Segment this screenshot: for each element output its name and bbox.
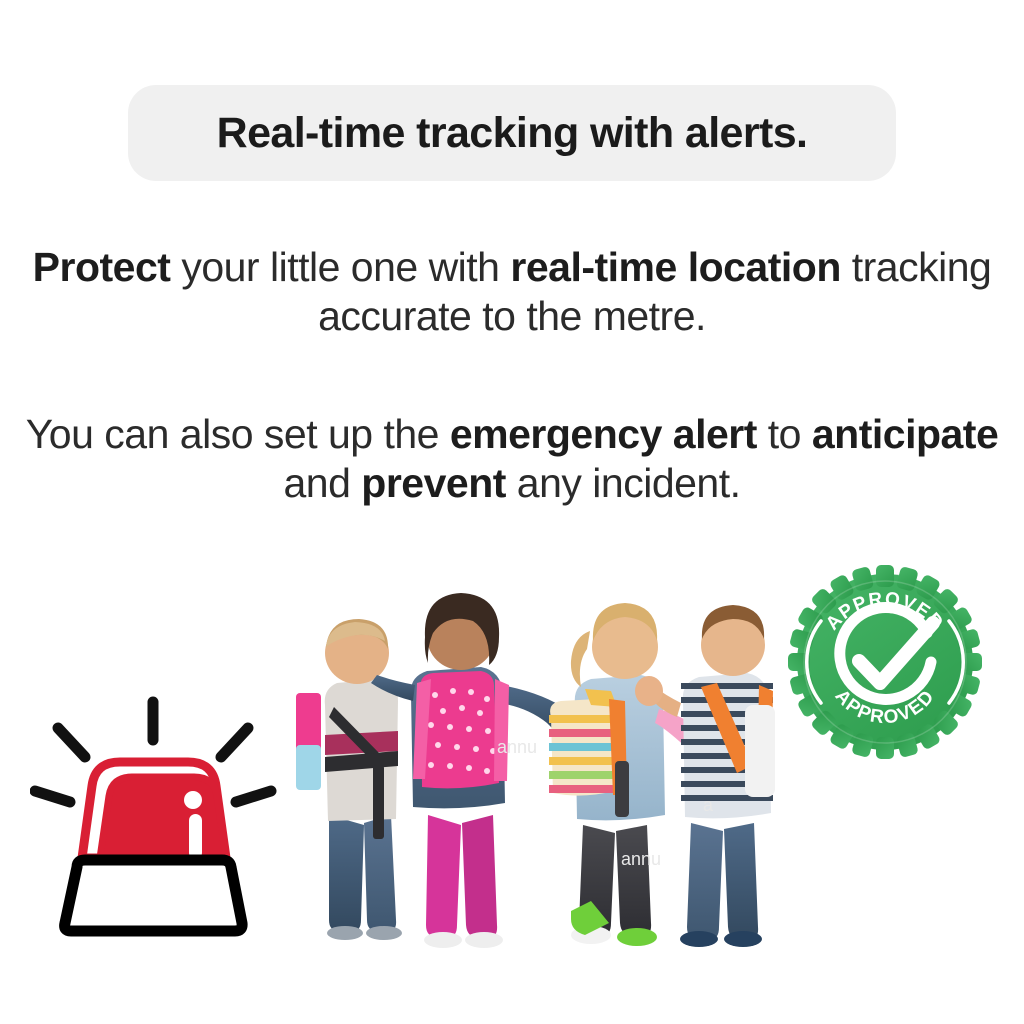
page-title: Real-time tracking with alerts. [217,112,808,155]
siren-ray-right [236,791,271,802]
siren-ray-left [35,791,70,802]
text-segment-your-little-one: your little one with [170,244,510,290]
text-segment-you-can-also: You can also set up the [26,411,450,457]
approved-seal-icon: APPROVED APPROVED [785,555,985,770]
emergency-siren-icon [30,690,280,950]
svg-text:a: a [703,795,714,815]
svg-text:annu: annu [497,737,537,757]
siren-highlight-streak [189,814,202,859]
paragraph-location-tracking: Protect your little one with real-time l… [0,243,1024,341]
text-segment-protect: Protect [33,244,171,290]
text-segment-prevent: prevent [361,460,506,506]
text-segment-real-time-location: real-time location [510,244,840,290]
promo-card: Real-time tracking with alerts. Protect … [0,0,1024,1024]
paragraph-emergency-alert: You can also set up the emergency alert … [0,410,1024,508]
siren-dome-fill [100,777,226,858]
children-with-backpacks-photo: annu annu a [285,575,775,975]
siren-ray-upper-left [58,728,85,757]
text-segment-anticipate: anticipate [812,411,998,457]
text-segment-any-incident: any incident. [506,460,741,506]
svg-text:annu: annu [621,849,661,869]
seal-starburst [788,565,982,759]
text-segment-to: to [757,411,812,457]
siren-ray-upper-right [221,728,248,757]
siren-base [65,860,243,931]
siren-highlight-dot [184,791,202,809]
title-pill: Real-time tracking with alerts. [128,85,896,181]
text-segment-and: and [283,460,361,506]
text-segment-emergency-alert: emergency alert [450,411,757,457]
